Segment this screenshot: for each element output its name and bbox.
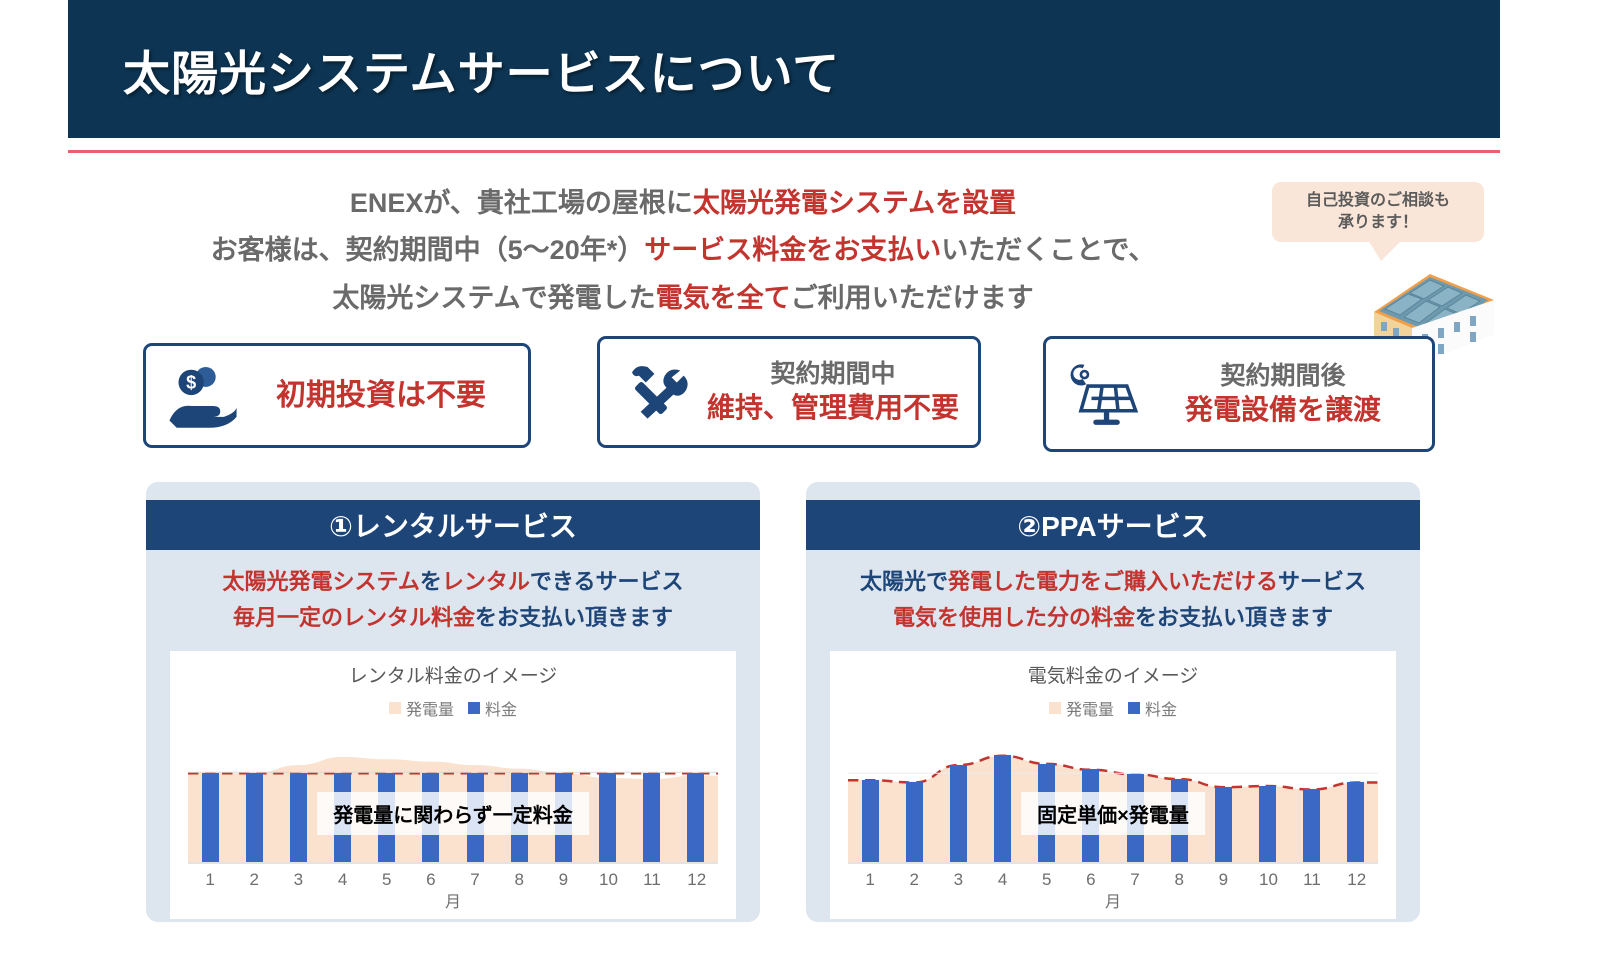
lead-line-2-part-b: サービス料金をお支払い [644, 235, 941, 265]
month-tick-label: 10 [599, 870, 616, 890]
legend-item-fee: 料金 [1128, 696, 1177, 720]
desc-segment: をご購入いただける [1080, 569, 1278, 594]
chart-bar [202, 773, 219, 864]
legend-label-generation: 発電量 [1066, 696, 1114, 720]
card-2-month-axis: 123456789101112 [848, 870, 1378, 890]
card-2-description: 太陽光で発電した電力をご購入いただけるサービス 電気を使用した分の料金をお支払い… [806, 550, 1420, 643]
month-tick-label: 6 [422, 870, 439, 890]
lead-line-1: ENEXが、貴社工場の屋根に太陽光発電システムを設置 [68, 180, 1298, 227]
month-tick-label: 9 [1215, 870, 1232, 890]
card-1-month-axis: 123456789101112 [188, 870, 718, 890]
legend-swatch-generation-icon [389, 702, 401, 714]
card-2-desc-line-2: 電気を使用した分の料金をお支払い頂きます [816, 600, 1410, 636]
card-1-header: ①レンタルサービス [146, 500, 760, 550]
desc-segment: できるサービス [530, 569, 684, 594]
desc-segment: 太陽光で [860, 569, 948, 594]
lead-line-1-part-b: 太陽光発電システムを設置 [693, 188, 1016, 218]
self-investment-callout: 自己投資のご相談も 承ります！ [1272, 182, 1484, 242]
solar-panel-gear-icon [1060, 351, 1146, 437]
month-tick-label: 7 [467, 870, 484, 890]
chart-bar [687, 773, 704, 864]
desc-segment: をお支払い頂きます [1135, 605, 1333, 630]
desc-segment: レンタル [442, 569, 530, 594]
card-2-plot: 固定単価×発電量 [848, 736, 1378, 864]
desc-segment: をお支払い頂きます [475, 605, 673, 630]
legend-swatch-generation-icon [1049, 702, 1061, 714]
card-1-chart-panel: レンタル料金のイメージ 発電量 料金 発電量に関わらず一定料金 12345678… [170, 651, 736, 919]
chart-bar [1215, 787, 1232, 864]
slide: 太陽光システムサービスについて ENEXが、貴社工場の屋根に太陽光発電システムを… [0, 0, 1616, 961]
lead-line-3-part-a: 太陽光システムで発電した [332, 283, 655, 313]
month-tick-label: 5 [378, 870, 395, 890]
desc-segment: 太陽光発電システム [223, 569, 420, 594]
callout-line-2: 承ります！ [1338, 214, 1418, 231]
card-1-description: 太陽光発電システムをレンタルできるサービス 毎月一定のレンタル料金をお支払い頂き… [146, 550, 760, 643]
page-title: 太陽光システムサービスについて [123, 35, 840, 104]
feature-box-2-sublabel: 契約期間中 [700, 359, 966, 390]
card-1-chart-annotation: 発電量に関わらず一定料金 [317, 792, 589, 835]
lead-line-3-part-b: 電気を全て [656, 283, 791, 313]
month-tick-label: 4 [334, 870, 351, 890]
month-tick-label: 7 [1127, 870, 1144, 890]
lead-line-2-part-a: お客様は、契約期間中（5〜20年*） [211, 235, 645, 265]
chart-bar [950, 765, 967, 864]
desc-segment: サービス [1278, 569, 1366, 594]
month-tick-label: 3 [290, 870, 307, 890]
month-tick-label: 2 [246, 870, 263, 890]
month-tick-label: 11 [1303, 870, 1320, 890]
hammer-wrench-icon [614, 349, 700, 435]
chart-bar [906, 782, 923, 863]
month-tick-label: 5 [1038, 870, 1055, 890]
card-2-baseline [848, 862, 1378, 864]
legend-swatch-fee-icon [468, 702, 480, 714]
card-1-plot: 発電量に関わらず一定料金 [188, 736, 718, 864]
chart-bar [290, 773, 307, 864]
legend-label-fee: 料金 [1145, 696, 1177, 720]
card-2-chart-title: 電気料金のイメージ [830, 651, 1396, 688]
month-tick-label: 3 [950, 870, 967, 890]
lead-line-2: お客様は、契約期間中（5〜20年*）サービス料金をお支払いいただくことで、 [68, 227, 1298, 274]
lead-line-2-part-c: いただくことで、 [941, 235, 1155, 265]
month-tick-label: 11 [643, 870, 660, 890]
card-1-chart-title: レンタル料金のイメージ [170, 651, 736, 688]
month-tick-label: 12 [687, 870, 704, 890]
chart-bar [246, 773, 263, 864]
legend-label-fee: 料金 [485, 696, 517, 720]
feature-box-3-label: 発電設備を譲渡 [1146, 392, 1420, 427]
month-tick-label: 4 [994, 870, 1011, 890]
card-2-heading: ②PPAサービス [1017, 505, 1208, 545]
desc-segment: を [420, 569, 442, 594]
desc-segment: 毎月一定のレンタル料金 [233, 605, 475, 630]
feature-box-equipment-transfer[interactable]: 契約期間後 発電設備を譲渡 [1043, 336, 1435, 452]
legend-swatch-fee-icon [1128, 702, 1140, 714]
lead-line-3: 太陽光システムで発電した電気を全てご利用いただけます [68, 275, 1298, 322]
card-2-desc-line-1: 太陽光で発電した電力をご購入いただけるサービス [816, 564, 1410, 600]
desc-segment: 電気を使用した分の料金 [893, 605, 1135, 630]
legend-item-generation: 発電量 [1049, 696, 1114, 720]
card-1-desc-line-1: 太陽光発電システムをレンタルできるサービス [156, 564, 750, 600]
feature-box-2-text: 契約期間中 維持、管理費用不要 [700, 359, 978, 425]
card-1-baseline [188, 862, 718, 864]
legend-item-fee: 料金 [468, 696, 517, 720]
feature-box-3-sublabel: 契約期間後 [1146, 361, 1420, 392]
lead-paragraph: ENEXが、貴社工場の屋根に太陽光発電システムを設置 お客様は、契約期間中（5〜… [68, 180, 1298, 322]
callout-text: 自己投資のご相談も 承ります！ [1306, 190, 1450, 233]
legend-label-generation: 発電量 [406, 696, 454, 720]
chart-bar [1259, 786, 1276, 864]
feature-box-no-initial-investment[interactable]: $ 初期投資は不要 [143, 343, 531, 448]
feature-box-2-label: 維持、管理費用不要 [700, 390, 966, 425]
lead-line-1-part-a: ENEXが、貴社工場の屋根に [350, 188, 693, 218]
card-1-chart-legend: 発電量 料金 [170, 696, 736, 720]
feature-box-1-text: 初期投資は不要 [246, 377, 528, 415]
month-tick-label: 8 [1171, 870, 1188, 890]
chart-bar [1303, 789, 1320, 863]
lead-line-3-part-c: ご利用いただけます [791, 283, 1034, 313]
month-tick-label: 12 [1347, 870, 1364, 890]
desc-segment: 発電した電力 [948, 569, 1080, 594]
month-tick-label: 1 [202, 870, 219, 890]
chart-bar [643, 773, 660, 864]
month-tick-label: 1 [862, 870, 879, 890]
card-2-chart-panel: 電気料金のイメージ 発電量 料金 固定単価×発電量 12345678910111… [830, 651, 1396, 919]
chart-bar [994, 755, 1011, 863]
card-2-header: ②PPAサービス [806, 500, 1420, 550]
slide-title-bar: 太陽光システムサービスについて [68, 0, 1500, 138]
chart-bar [1347, 782, 1364, 863]
month-tick-label: 10 [1259, 870, 1276, 890]
card-1-heading: ①レンタルサービス [329, 505, 577, 545]
month-tick-label: 6 [1082, 870, 1099, 890]
chart-bar [862, 780, 879, 864]
card-2-chart-legend: 発電量 料金 [830, 696, 1396, 720]
month-tick-label: 8 [511, 870, 528, 890]
service-card-ppa[interactable]: ②PPAサービス 太陽光で発電した電力をご購入いただけるサービス 電気を使用した… [806, 482, 1420, 922]
month-tick-label: 9 [555, 870, 572, 890]
card-2-axis-label: 月 [830, 888, 1396, 912]
feature-box-no-maintenance-cost[interactable]: 契約期間中 維持、管理費用不要 [597, 336, 981, 448]
feature-box-1-label: 初期投資は不要 [276, 379, 486, 412]
callout-line-1: 自己投資のご相談も [1306, 192, 1450, 209]
feature-box-3-text: 契約期間後 発電設備を譲渡 [1146, 361, 1432, 427]
month-tick-label: 2 [906, 870, 923, 890]
card-1-axis-label: 月 [170, 888, 736, 912]
hand-coin-icon: $ [160, 353, 246, 439]
svg-text:$: $ [186, 372, 196, 392]
chart-bar [599, 773, 616, 864]
legend-item-generation: 発電量 [389, 696, 454, 720]
service-card-rental[interactable]: ①レンタルサービス 太陽光発電システムをレンタルできるサービス 毎月一定のレンタ… [146, 482, 760, 922]
card-1-desc-line-2: 毎月一定のレンタル料金をお支払い頂きます [156, 600, 750, 636]
title-underline-divider [68, 150, 1500, 153]
card-2-chart-annotation: 固定単価×発電量 [1021, 792, 1205, 835]
